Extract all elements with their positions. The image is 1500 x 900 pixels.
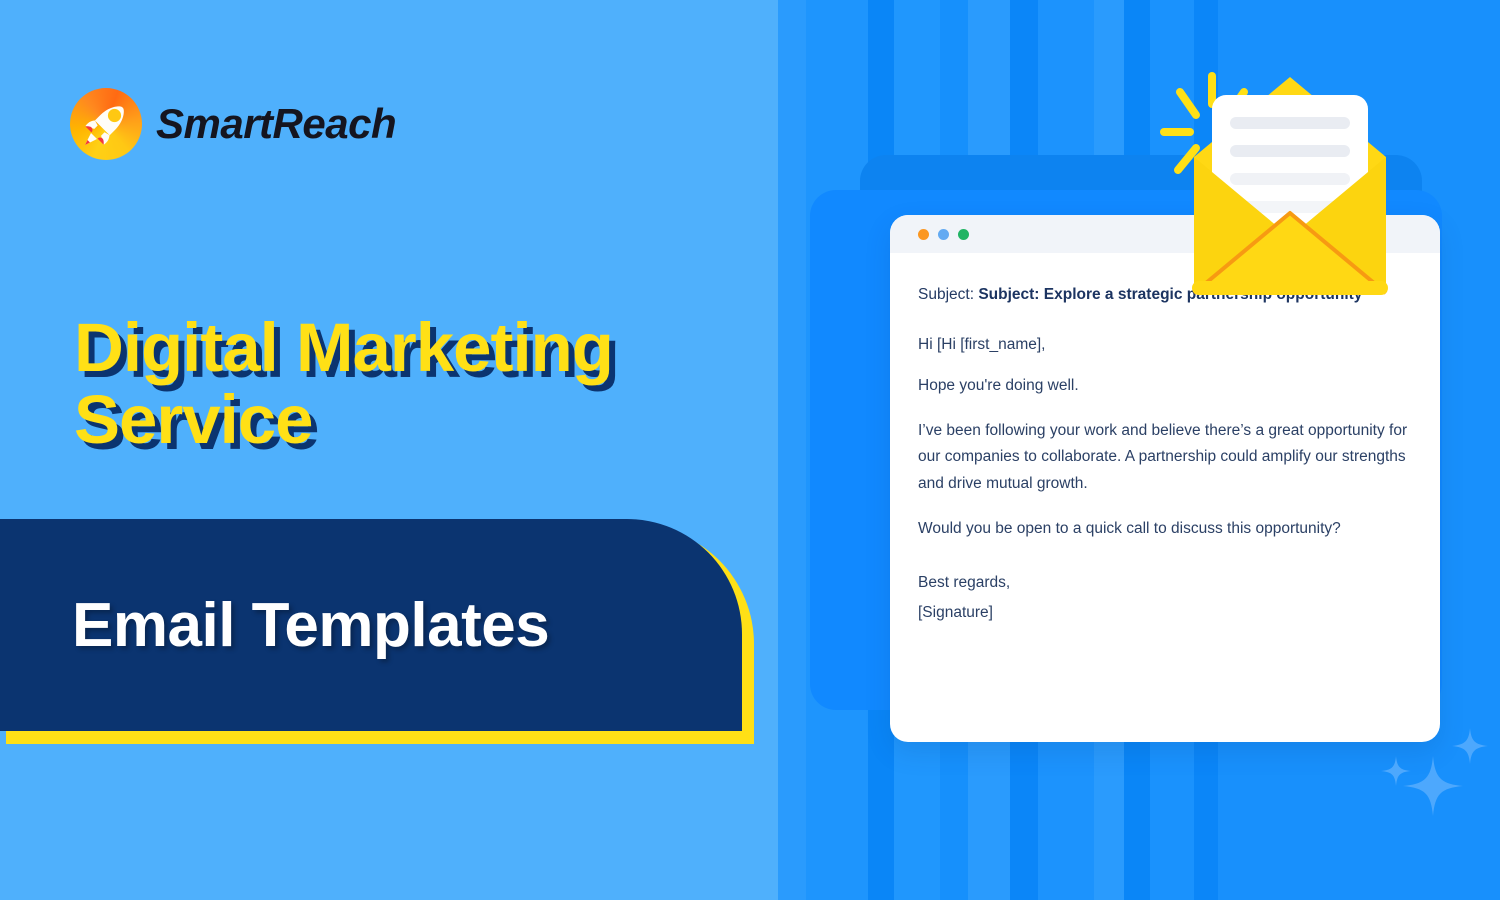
sparkles-icon: [1378, 718, 1498, 853]
left-panel: SmartReach Digital Marketing Service Ema…: [0, 0, 778, 900]
window-maximize-dot-icon[interactable]: [958, 229, 969, 240]
window-minimize-dot-icon[interactable]: [938, 229, 949, 240]
banner-body: Email Templates: [0, 519, 742, 731]
headline-line-1: Digital Marketing: [74, 309, 613, 386]
email-subject-label: Subject:: [918, 286, 978, 303]
banner-title: Email Templates: [72, 590, 549, 661]
email-body: Subject: Subject: Explore a strategic pa…: [890, 253, 1440, 627]
email-paragraph: I’ve been following your work and believ…: [918, 418, 1412, 498]
email-signature: [Signature]: [918, 598, 1412, 627]
page-title: Digital Marketing Service: [74, 312, 754, 457]
email-cta: Would you be open to a quick call to dis…: [918, 516, 1412, 543]
email-opener: Hope you're doing well.: [918, 373, 1412, 400]
rocket-icon: [70, 88, 142, 160]
brand-name: SmartReach: [156, 103, 396, 145]
poster-canvas: SmartReach Digital Marketing Service Ema…: [0, 0, 1500, 900]
headline-line-2: Service: [74, 381, 313, 458]
right-panel: Subject: Subject: Explore a strategic pa…: [778, 0, 1500, 900]
email-signature-block: Best regards, [Signature]: [918, 568, 1412, 627]
open-envelope-icon: [1190, 65, 1390, 295]
email-signoff: Best regards,: [918, 568, 1412, 597]
brand-lockup: SmartReach: [70, 88, 396, 160]
window-close-dot-icon[interactable]: [918, 229, 929, 240]
email-greeting: Hi [Hi [first_name],: [918, 332, 1412, 359]
banner: Email Templates: [0, 519, 760, 744]
